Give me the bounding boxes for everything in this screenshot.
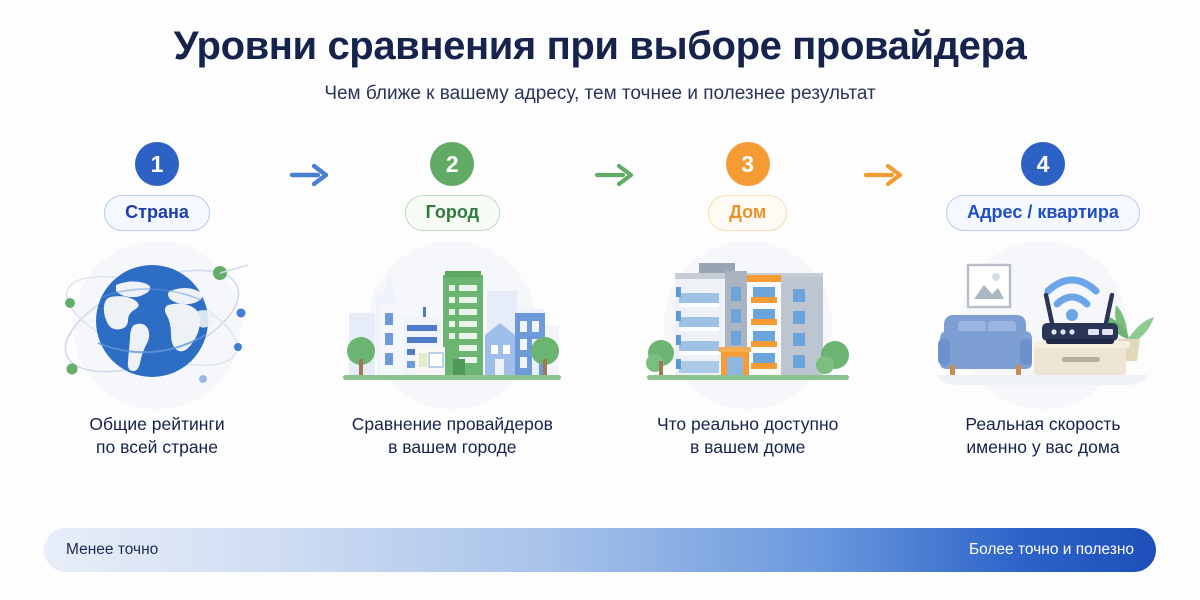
apartment-illustration xyxy=(629,245,867,397)
step-country[interactable]: 1 Страна xyxy=(28,142,286,460)
scale-right-label: Более точно и полезно xyxy=(969,541,1134,559)
accuracy-scale-bar: Менее точно Более точно и полезно xyxy=(44,528,1156,572)
step-caption-country: Общие рейтинги по всей стране xyxy=(89,413,224,460)
scale-left-label: Менее точно xyxy=(66,541,158,559)
sofa-icon xyxy=(938,315,1032,375)
picture-frame-icon xyxy=(968,265,1010,307)
room-router-illustration xyxy=(924,245,1162,397)
step-house[interactable]: 3 Дом xyxy=(619,142,877,460)
step-address[interactable]: 4 Адрес / квартира xyxy=(914,142,1172,460)
step-badge-3: 3 xyxy=(726,142,770,186)
step-caption-city: Сравнение провайдеров в вашем городе xyxy=(352,413,553,460)
step-caption-house: Что реально доступно в вашем доме xyxy=(657,413,838,460)
step-badge-2: 2 xyxy=(430,142,474,186)
globe-illustration xyxy=(38,245,276,397)
step-pill-house[interactable]: Дом xyxy=(708,195,787,231)
arrow-city-to-house-icon xyxy=(593,160,639,190)
step-pill-country[interactable]: Страна xyxy=(104,195,210,231)
arrow-country-to-city-icon xyxy=(288,160,334,190)
step-badge-1: 1 xyxy=(135,142,179,186)
step-caption-address: Реальная скорость именно у вас дома xyxy=(965,413,1120,460)
infographic-page: Уровни сравнения при выборе провайдера Ч… xyxy=(0,0,1200,600)
city-illustration xyxy=(333,245,571,397)
step-pill-city[interactable]: Город xyxy=(405,195,500,231)
page-subtitle: Чем ближе к вашему адресу, тем точнее и … xyxy=(0,83,1200,106)
wifi-icon xyxy=(1048,280,1096,304)
step-badge-4: 4 xyxy=(1021,142,1065,186)
page-title: Уровни сравнения при выборе провайдера xyxy=(0,24,1200,69)
header: Уровни сравнения при выборе провайдера Ч… xyxy=(0,0,1200,106)
step-pill-address[interactable]: Адрес / квартира xyxy=(946,195,1140,231)
step-city[interactable]: 2 Город xyxy=(323,142,581,460)
arrow-house-to-address-icon xyxy=(862,160,908,190)
